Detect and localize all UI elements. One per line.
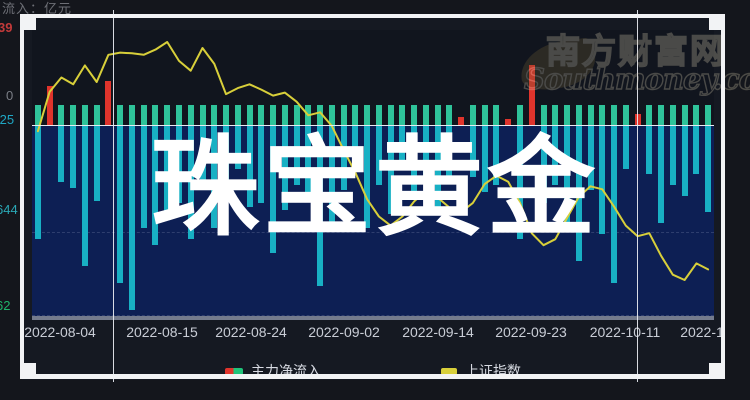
overlay-title: 珠宝黄金 (0, 135, 750, 243)
chart-legend: 主力净流入 上证指数 (22, 358, 724, 380)
y-axis-label-3: 62 (0, 298, 10, 313)
watermark-text-en: Southmoney.com (524, 62, 750, 96)
legend-swatch-index-icon (441, 368, 457, 375)
y-axis-label-zero: 0 (6, 88, 13, 103)
x-axis-tick-label: 2022-08-04 (24, 324, 96, 340)
clipped-axis-value: 39 (0, 20, 12, 35)
x-axis-tick-label: 2022-08-24 (215, 324, 287, 340)
x-axis-tick-label: 2022-10-20 (680, 324, 724, 340)
y-axis-label-1: .25 (0, 112, 14, 127)
legend-item-net-inflow[interactable]: 主力净流入 (225, 361, 321, 380)
x-axis-tick-label: 2022-09-14 (402, 324, 474, 340)
x-axis: 2022-08-042022-08-152022-08-242022-09-02… (22, 324, 724, 352)
watermark: 南方财富网 Southmoney.com (520, 22, 750, 112)
x-axis-tick-label: 2022-09-02 (308, 324, 380, 340)
legend-label-shanghai-index: 上证指数 (465, 361, 521, 380)
x-axis-tick-label: 2022-10-11 (590, 324, 661, 340)
legend-label-net-inflow: 主力净流入 (251, 361, 321, 380)
legend-swatch-net-inflow-icon (225, 368, 243, 375)
x-axis-tick-label: 2022-09-23 (495, 324, 567, 340)
x-axis-tick-label: 2022-08-15 (126, 324, 198, 340)
legend-item-shanghai-index[interactable]: 上证指数 (441, 361, 521, 380)
clipped-axis-caption: 流入：亿元 (2, 0, 72, 17)
screenshot-root: 流入：亿元 39 0 .25 644 62 2022-08-042022-08-… (0, 0, 750, 400)
